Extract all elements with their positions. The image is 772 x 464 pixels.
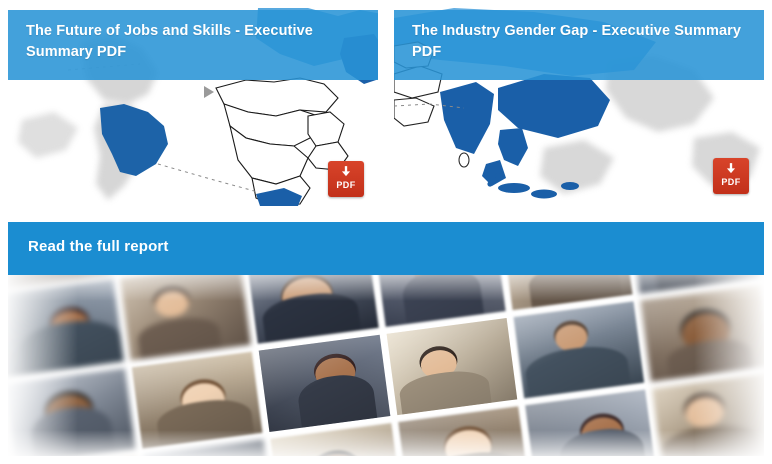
collage-figure-body	[523, 341, 631, 398]
collage-photo-tile	[247, 275, 378, 344]
collage-figure-head	[414, 275, 464, 292]
collage-figure-body	[398, 367, 492, 415]
country-brazil	[100, 104, 168, 176]
collage-photo-tile	[386, 318, 517, 416]
photo-collage-grid	[8, 275, 764, 456]
collage-figure-head	[553, 323, 589, 353]
pdf-label: PDF	[336, 180, 355, 190]
collage-figure-head	[280, 275, 334, 320]
collage-figure-body	[136, 314, 222, 359]
card-header-industry-gender-gap: The Industry Gender Gap - Executive Summ…	[394, 10, 764, 80]
country-india	[440, 82, 494, 154]
collage-photo-tile	[525, 390, 656, 456]
collage-photo-tile	[120, 275, 251, 360]
collage-figure-head	[579, 415, 625, 453]
pdf-download-button[interactable]: PDF	[713, 158, 749, 194]
collage-photo-tile	[8, 368, 135, 456]
collage-figure-head	[550, 275, 596, 277]
promo-card-row: The Future of Jobs and Skills - Executiv…	[0, 0, 772, 214]
download-arrow-icon	[339, 165, 353, 179]
collage-figure-head	[49, 309, 90, 343]
collage-photo-tile	[8, 279, 124, 377]
collage-figure-body	[260, 288, 361, 342]
collage-figure-body	[527, 275, 622, 307]
collage-figure-head	[443, 427, 493, 456]
collage-photo-tile	[398, 406, 529, 456]
collage-figure-body	[28, 403, 115, 456]
collage-figure-head	[683, 395, 725, 430]
collage-figure-body	[155, 395, 254, 447]
map-arrow-marker	[204, 86, 214, 98]
collage-figure-head	[680, 310, 733, 354]
country-china	[498, 74, 610, 138]
read-full-report-section[interactable]: Read the full report	[8, 222, 764, 456]
country-sri-lanka	[459, 153, 469, 167]
collage-figure-head	[419, 348, 459, 381]
region-southeast-asia	[482, 128, 528, 186]
collage-figure-body	[418, 448, 524, 456]
collage-figure-body	[400, 275, 483, 324]
pdf-download-button[interactable]: PDF	[328, 161, 364, 197]
pdf-label: PDF	[721, 177, 740, 187]
collage-figure-head	[179, 380, 227, 420]
collage-figure-body	[295, 371, 377, 428]
card-header-future-of-jobs: The Future of Jobs and Skills - Executiv…	[8, 10, 378, 80]
read-full-report-title: Read the full report	[28, 237, 764, 257]
card-title: The Future of Jobs and Skills - Executiv…	[26, 21, 360, 63]
promo-card-future-of-jobs[interactable]: The Future of Jobs and Skills - Executiv…	[8, 8, 378, 206]
collage-photo-tile	[641, 284, 764, 382]
collage-photo-tile	[132, 351, 263, 449]
collage-photo-tile	[513, 301, 644, 399]
collage-figure-body	[558, 424, 647, 456]
collage-figure-body	[661, 420, 762, 456]
promo-card-industry-gender-gap[interactable]: The Industry Gender Gap - Executive Summ…	[394, 8, 764, 206]
photo-collage	[8, 275, 764, 456]
read-full-report-banner: Read the full report	[8, 222, 764, 275]
collage-figure-head	[309, 452, 363, 456]
collage-photo-tile	[652, 373, 764, 456]
collage-photo-tile	[259, 335, 390, 433]
collage-figure-head	[43, 392, 95, 435]
collage-photo-tile	[374, 275, 505, 327]
download-arrow-icon	[724, 162, 738, 176]
collage-figure-head	[313, 355, 357, 391]
collage-figure-body	[17, 316, 123, 374]
card-title: The Industry Gender Gap - Executive Summ…	[412, 21, 746, 63]
collage-figure-head	[154, 288, 191, 319]
collage-figure-body	[665, 336, 754, 380]
